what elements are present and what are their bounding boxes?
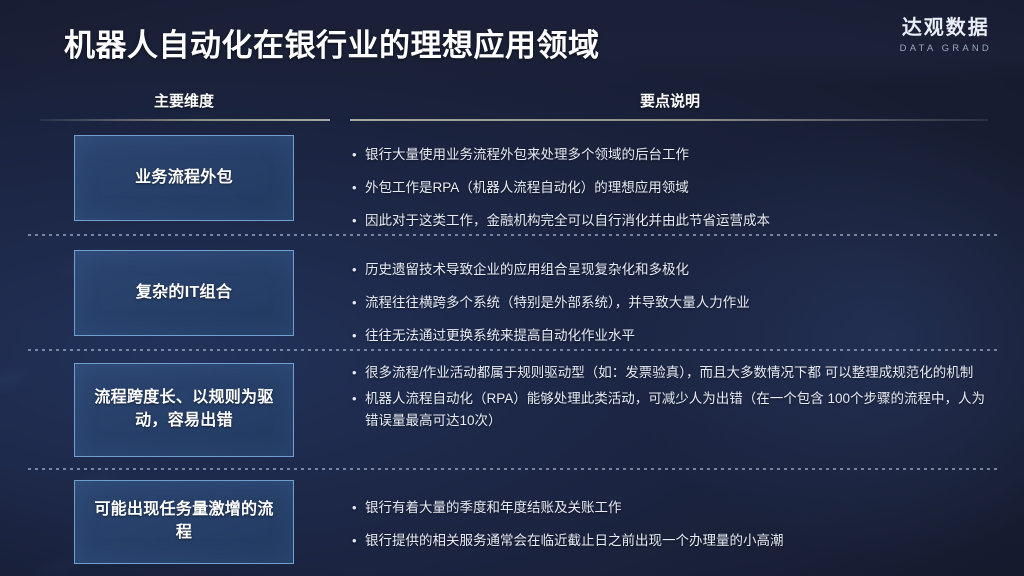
dimension-box[interactable]: 流程跨度长、以规则为驱动，容易出错 [74, 363, 294, 457]
list-item: 银行提供的相关服务通常会在临近截止日之前出现一个办理量的小高潮 [352, 530, 994, 552]
list-item: 流程往往横跨多个系统（特别是外部系统），并导致大量人力作业 [352, 292, 994, 314]
dimension-label: 可能出现任务量激增的流程 [87, 499, 281, 544]
page-title: 机器人自动化在银行业的理想应用领域 [64, 20, 600, 65]
column-header-rule-right [350, 119, 988, 121]
list-item: 机器人流程自动化（RPA）能够处理此类活动，可减少人为出错（在一个包含 100个… [352, 388, 994, 432]
row-divider [28, 468, 1000, 470]
dimension-box[interactable]: 可能出现任务量激增的流程 [74, 480, 294, 564]
list-item: 因此对于这类工作，金融机构完全可以自行消化并由此节省运营成本 [352, 210, 994, 232]
row-divider [28, 234, 1000, 236]
brand-logo-en: DATA GRAND [900, 44, 992, 54]
list-item: 银行大量使用业务流程外包来处理多个领域的后台工作 [352, 144, 994, 166]
column-header-dimension: 主要维度 [74, 90, 294, 111]
row-divider [28, 349, 1000, 351]
dimension-label: 流程跨度长、以规则为驱动，容易出错 [87, 387, 281, 432]
dimension-box[interactable]: 复杂的IT组合 [74, 250, 294, 336]
list-item: 往往无法通过更换系统来提高自动化作业水平 [352, 325, 994, 347]
points-list: 银行有着大量的季度和年度结账及关账工作 银行提供的相关服务通常会在临近截止日之前… [352, 497, 994, 552]
column-header-rule-left [40, 119, 330, 121]
points-list: 很多流程/作业活动都属于规则驱动型（如：发票验真），而且大多数情况下都 可以整理… [352, 362, 994, 432]
dimension-box[interactable]: 业务流程外包 [74, 135, 294, 221]
points-list: 历史遗留技术导致企业的应用组合呈现复杂化和多极化 流程往往横跨多个系统（特别是外… [352, 259, 994, 347]
brand-logo-cn: 达观数据 [900, 18, 992, 38]
list-item: 很多流程/作业活动都属于规则驱动型（如：发票验真），而且大多数情况下都 可以整理… [352, 362, 994, 384]
list-item: 外包工作是RPA（机器人流程自动化）的理想应用领域 [352, 177, 994, 199]
list-item: 历史遗留技术导致企业的应用组合呈现复杂化和多极化 [352, 259, 994, 281]
brand-logo: 达观数据 DATA GRAND [900, 18, 992, 54]
slide-root: 机器人自动化在银行业的理想应用领域 达观数据 DATA GRAND 主要维度 要… [0, 0, 1024, 576]
column-header-details: 要点说明 [350, 90, 990, 111]
dimension-label: 复杂的IT组合 [136, 282, 232, 305]
list-item: 银行有着大量的季度和年度结账及关账工作 [352, 497, 994, 519]
points-list: 银行大量使用业务流程外包来处理多个领域的后台工作 外包工作是RPA（机器人流程自… [352, 144, 994, 232]
dimension-label: 业务流程外包 [135, 167, 233, 190]
